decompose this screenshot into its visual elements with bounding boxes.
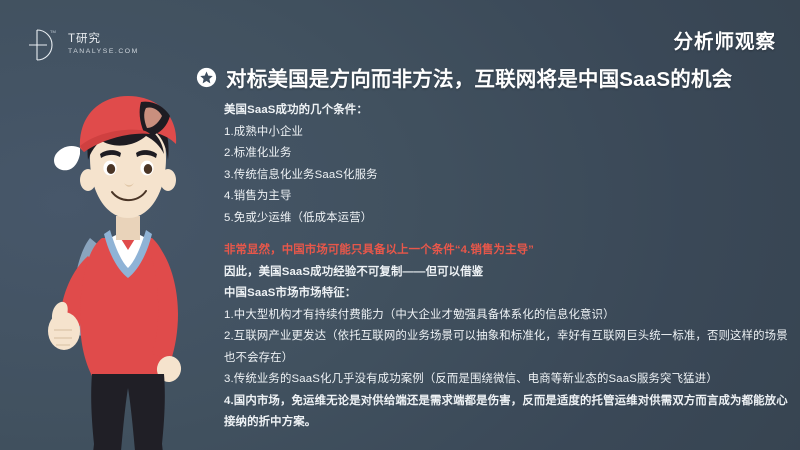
header-title: 分析师观察	[673, 25, 776, 54]
cartoon-boy-thumbs-up-icon	[28, 88, 218, 450]
list-item: 2.标准化业务	[224, 143, 790, 165]
svg-text:TM: TM	[50, 29, 56, 34]
list-item: 5.免或少运维（低成本运营）	[224, 208, 790, 230]
list-item: 3.传统信息化业务SaaS化服务	[224, 165, 790, 187]
logo-wordmark: T研究 TANALYSE.COM	[68, 34, 139, 55]
headline-text: 对标美国是方向而非方法，互联网将是中国SaaS的机会	[226, 62, 732, 92]
brand-logo[interactable]: TM T研究 TANALYSE.COM	[27, 26, 139, 64]
spacer	[224, 229, 790, 240]
list-item: 4.销售为主导	[224, 186, 790, 208]
highlight-statement: 非常显然，中国市场可能只具备以上一个条件“4.销售为主导”	[224, 240, 790, 262]
list-item: 1.中大型机构才有持续付费能力（中大企业才勉强具备体系化的信息化意识）	[224, 305, 790, 327]
list-item: 1.成熟中小企业	[224, 122, 790, 144]
list-item: 2.互联网产业更发达（依托互联网的业务场景可以抽象和标准化，幸好有互联网巨头统一…	[224, 326, 790, 369]
logo-name-cn: T研究	[68, 34, 139, 46]
headline: 对标美国是方向而非方法，互联网将是中国SaaS的机会	[196, 62, 732, 92]
cartoon-boy-illustration	[28, 88, 218, 450]
section-one-title: 美国SaaS成功的几个条件：	[224, 100, 790, 122]
body-copy: 美国SaaS成功的几个条件： 1.成熟中小企业 2.标准化业务 3.传统信息化业…	[224, 100, 790, 434]
star-badge-icon	[196, 67, 217, 88]
section-two-title: 中国SaaS市场市场特征：	[224, 283, 790, 305]
list-item: 4.国内市场，免运维无论是对供给端还是需求端都是伤害，反而是适度的托管运维对供需…	[224, 391, 790, 434]
t-research-logo-icon: TM	[27, 26, 61, 64]
logo-url: TANALYSE.COM	[68, 49, 139, 56]
list-item: 3.传统业务的SaaS化几乎没有成功案例（反而是围绕微信、电商等新业态的SaaS…	[224, 369, 790, 391]
conclusion-statement: 因此，美国SaaS成功经验不可复制——但可以借鉴	[224, 262, 790, 284]
slide-canvas: TM T研究 TANALYSE.COM 分析师观察 对标美国是方向而非方法，互联…	[0, 0, 800, 450]
